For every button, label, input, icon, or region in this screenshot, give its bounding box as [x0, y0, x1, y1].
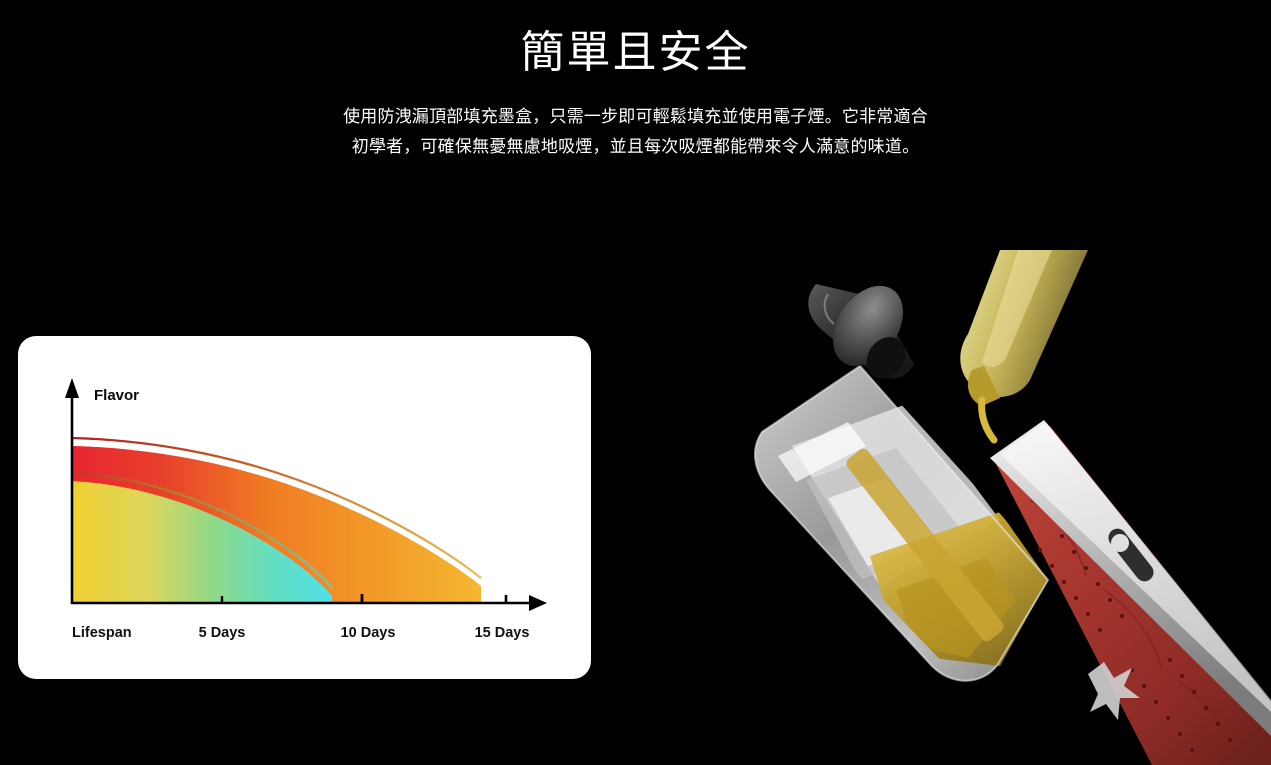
- page-title: 簡單且安全: [0, 0, 1271, 84]
- x-tick-label-15days: 15 Days: [475, 625, 530, 641]
- y-axis-title: Flavor: [94, 387, 139, 404]
- x-axis-arrow-icon: [529, 595, 547, 611]
- flavor-chart-card: Flavor Lifespan 5 Days 10 Days 15 Days: [18, 336, 591, 679]
- y-axis-arrow-icon: [65, 378, 79, 398]
- vape-pod-device-illustration: [700, 250, 1271, 765]
- x-tick-label-10days: 10 Days: [341, 625, 396, 641]
- page-subtitle: 使用防洩漏頂部填充墨盒，只需一步即可輕鬆填充並使用電子煙。它非常適合初學者，可確…: [336, 84, 936, 162]
- page-header: 簡單且安全 使用防洩漏頂部填充墨盒，只需一步即可輕鬆填充並使用電子煙。它非常適合…: [0, 0, 1271, 162]
- x-tick-label-5days: 5 Days: [199, 625, 246, 641]
- x-tick-label-lifespan: Lifespan: [72, 625, 132, 641]
- device-power-button[interactable]: [1111, 534, 1129, 552]
- product-image: [700, 250, 1271, 765]
- flavor-area-chart: Flavor Lifespan 5 Days 10 Days 15 Days: [18, 336, 591, 679]
